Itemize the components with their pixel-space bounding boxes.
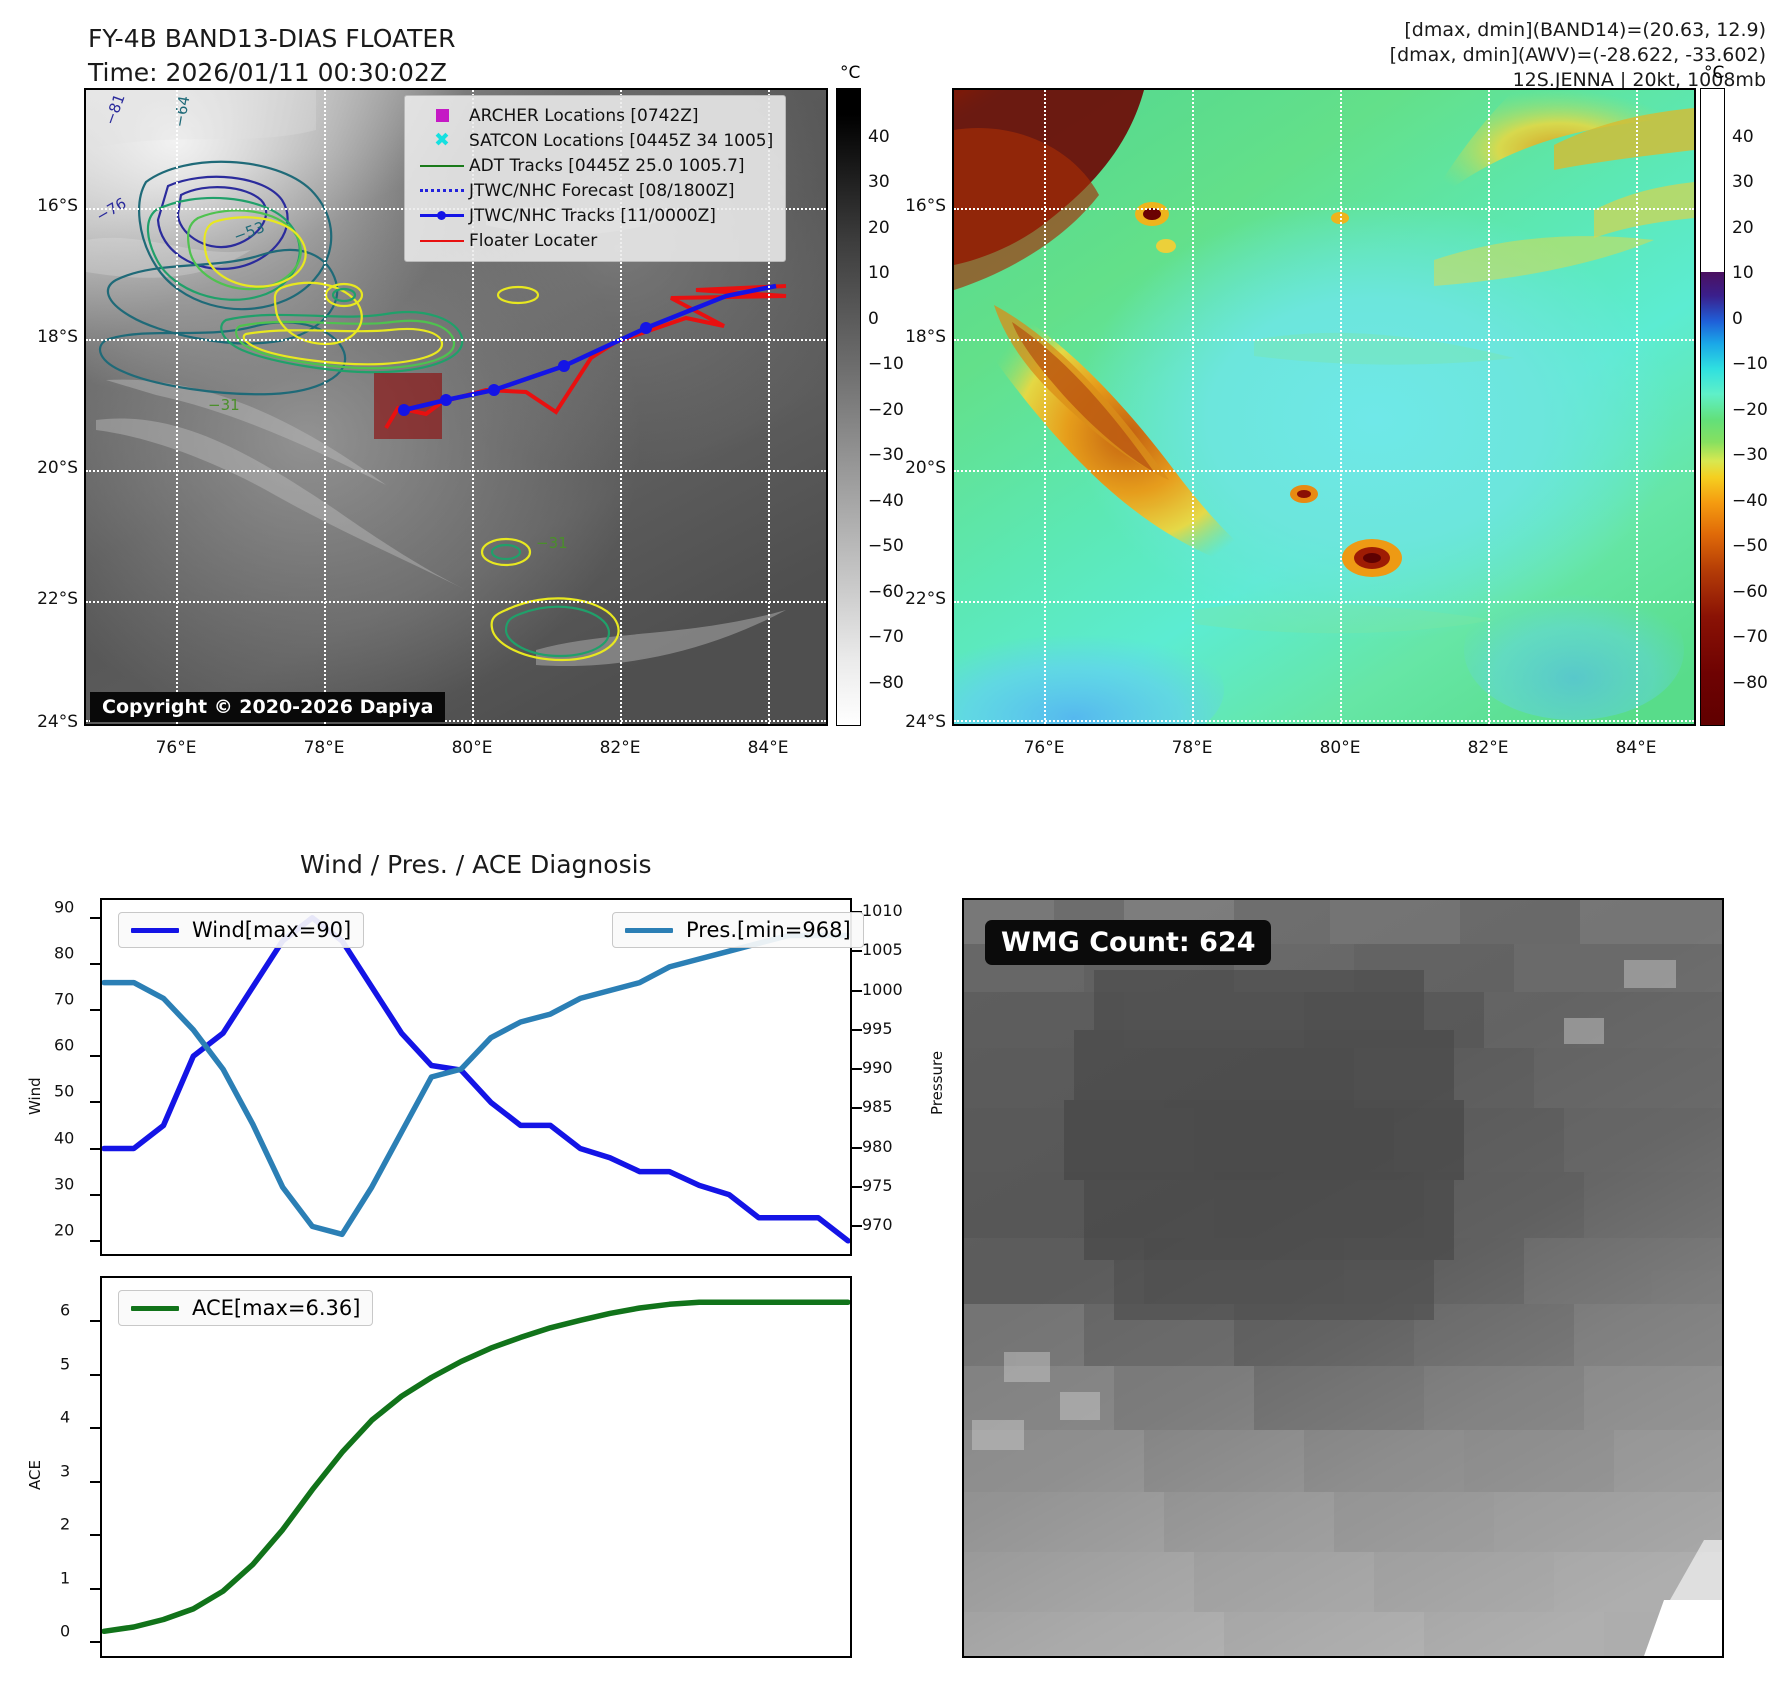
colorbar-right: [1700, 88, 1725, 726]
pressure-ytick: 1010: [862, 901, 903, 920]
pressure-tickmark: [852, 990, 862, 992]
legend-item-floater[interactable]: Floater Locater: [415, 228, 773, 253]
pressure-ytick: 985: [862, 1097, 893, 1116]
pressure-ytick: 980: [862, 1137, 893, 1156]
pressure-tickmark: [852, 1225, 862, 1227]
svg-text:−31: −31: [536, 534, 568, 552]
ace-ytick: 6: [60, 1301, 70, 1320]
colorbar-right-tick: −20: [1732, 400, 1768, 420]
colorbar-left-tick: −10: [868, 354, 904, 374]
legend-label: SATCON Locations [0445Z 34 1005]: [469, 131, 773, 151]
wind-ytick: 90: [54, 897, 74, 916]
legend-item-satcon[interactable]: ✖ SATCON Locations [0445Z 34 1005]: [415, 128, 773, 153]
product-title-block: FY-4B BAND13-DIAS FLOATER Time: 2026/01/…: [88, 22, 456, 90]
svg-text:−31: −31: [208, 396, 240, 414]
ace-ytick: 4: [60, 1408, 70, 1427]
map-right-xtick: 82°E: [1468, 738, 1509, 758]
wind-tickmark: [90, 1009, 100, 1011]
map-left-xtick: 76°E: [156, 738, 197, 758]
wind-ytick: 60: [54, 1036, 74, 1055]
wmg-microwave-panel[interactable]: [962, 898, 1724, 1658]
colorbar-right-tick: 20: [1732, 218, 1754, 238]
ace-plot-area: [102, 1278, 850, 1656]
map-right-ytick: 22°S: [890, 589, 946, 609]
ace-ytick: 3: [60, 1461, 70, 1480]
colorbar-right-tick: 40: [1732, 127, 1754, 147]
ace-tickmark: [90, 1641, 100, 1643]
wind-ytick: 80: [54, 943, 74, 962]
pressure-color-swatch: [625, 928, 673, 933]
wmg-count-badge: WMG Count: 624: [985, 920, 1271, 965]
map-right-ytick: 18°S: [890, 327, 946, 347]
ace-legend-label: ACE[max=6.36]: [192, 1296, 360, 1320]
pressure-tickmark: [852, 1147, 862, 1149]
awv-enhanced-map[interactable]: [952, 88, 1696, 726]
map-right-xtick: 84°E: [1616, 738, 1657, 758]
pressure-tickmark: [852, 950, 862, 952]
wind-tickmark: [90, 1240, 100, 1242]
ace-tickmark: [90, 1588, 100, 1590]
colorbar-left-tick: 40: [868, 127, 890, 147]
colorbar-right-tick: −10: [1732, 354, 1768, 374]
pressure-tickmark: [852, 1029, 862, 1031]
colorbar-left-tick: −50: [868, 536, 904, 556]
colorbar-right-unit: °C: [1704, 63, 1724, 83]
blue-dotted-line-icon: [415, 189, 469, 192]
ace-ytick: 2: [60, 1515, 70, 1534]
legend-label: ADT Tracks [0445Z 25.0 1005.7]: [469, 156, 745, 176]
dmax-band14-text: [dmax, dmin](BAND14)=(20.63, 12.9): [1390, 18, 1766, 43]
wmg-pixelated-imagery: [964, 900, 1722, 1656]
wind-ytick: 40: [54, 1128, 74, 1147]
pressure-tickmark: [852, 1107, 862, 1109]
colorbar-left-tick: −40: [868, 491, 904, 511]
legend-item-archer[interactable]: ARCHER Locations [0742Z]: [415, 103, 773, 128]
legend-item-tracks[interactable]: JTWC/NHC Tracks [11/0000Z]: [415, 203, 773, 228]
copyright-badge: Copyright © 2020-2026 Dapiya: [90, 692, 445, 722]
map-left-ytick: 20°S: [22, 458, 78, 478]
colorbar-left-tick: 0: [868, 309, 879, 329]
wind-ytick: 30: [54, 1174, 74, 1193]
wind-ytick: 20: [54, 1220, 74, 1239]
map-left-ytick: 22°S: [22, 589, 78, 609]
colorbar-left-unit: °C: [840, 63, 860, 83]
colorbar-right-tick: 30: [1732, 172, 1754, 192]
pressure-tickmark: [852, 1068, 862, 1070]
wind-tickmark: [90, 963, 100, 965]
colorbar-left: [836, 88, 861, 726]
colorbar-right-tick: 10: [1732, 263, 1754, 283]
legend-label: JTWC/NHC Tracks [11/0000Z]: [469, 206, 716, 226]
map-right-xtick: 80°E: [1320, 738, 1361, 758]
ace-ytick: 5: [60, 1354, 70, 1373]
map-left-xtick: 84°E: [748, 738, 789, 758]
wind-tickmark: [90, 1194, 100, 1196]
colorbar-left-tick: 10: [868, 263, 890, 283]
ace-chart[interactable]: [100, 1276, 852, 1658]
colorbar-right-tick: −30: [1732, 445, 1768, 465]
awv-enhanced-imagery: [954, 90, 1694, 724]
wind-ytick: 70: [54, 990, 74, 1009]
wind-color-swatch: [131, 928, 179, 933]
map-left-xtick: 78°E: [304, 738, 345, 758]
wind-legend[interactable]: Wind[max=90]: [118, 912, 364, 948]
legend-label: JTWC/NHC Forecast [08/1800Z]: [469, 181, 734, 201]
colorbar-left-tick: 20: [868, 218, 890, 238]
colorbar-left-tick: 30: [868, 172, 890, 192]
ace-tickmark: [90, 1534, 100, 1536]
cyan-x-marker-icon: ✖: [415, 131, 469, 150]
wind-tickmark: [90, 1101, 100, 1103]
map-right-ytick: 16°S: [890, 196, 946, 216]
blue-track-line-icon: [415, 214, 469, 217]
pressure-ytick: 970: [862, 1215, 893, 1234]
pressure-ytick: 995: [862, 1019, 893, 1038]
ace-tickmark: [90, 1427, 100, 1429]
red-line-icon: [415, 240, 469, 242]
ace-color-swatch: [131, 1306, 179, 1311]
ace-ytick: 0: [60, 1621, 70, 1640]
colorbar-left-tick: −20: [868, 400, 904, 420]
colorbar-right-tick: −60: [1732, 582, 1768, 602]
magenta-square-marker-icon: [415, 109, 469, 122]
ace-ytick: 1: [60, 1568, 70, 1587]
wind-axis-label: Wind: [26, 1077, 44, 1115]
product-time: Time: 2026/01/11 00:30:02Z: [88, 56, 456, 90]
map-left-ytick: 16°S: [22, 196, 78, 216]
ace-tickmark: [90, 1320, 100, 1322]
pressure-ytick: 1000: [862, 980, 903, 999]
legend-item-adt[interactable]: ADT Tracks [0445Z 25.0 1005.7]: [415, 153, 773, 178]
green-line-icon: [415, 165, 469, 167]
wind-legend-label: Wind[max=90]: [192, 918, 351, 942]
wind-pressure-chart[interactable]: [100, 898, 852, 1256]
pressure-tickmark: [852, 1186, 862, 1188]
diagnosis-title: Wind / Pres. / ACE Diagnosis: [300, 850, 652, 879]
map-left-ytick: 18°S: [22, 327, 78, 347]
colorbar-right-tick: 0: [1732, 309, 1743, 329]
ace-tickmark: [90, 1481, 100, 1483]
wind-tickmark: [90, 1055, 100, 1057]
pressure-ytick: 990: [862, 1058, 893, 1077]
pressure-legend-label: Pres.[min=968]: [686, 918, 851, 942]
pressure-axis-label: Pressure: [928, 1051, 946, 1115]
map-right-ytick: 24°S: [890, 712, 946, 732]
colorbar-right-tick: −80: [1732, 673, 1768, 693]
ace-legend[interactable]: ACE[max=6.36]: [118, 1290, 373, 1326]
legend-label: ARCHER Locations [0742Z]: [469, 106, 699, 126]
map-legend: ARCHER Locations [0742Z] ✖ SATCON Locati…: [404, 95, 786, 262]
wind-pressure-plot-area: [102, 900, 850, 1254]
ace-tickmark: [90, 1374, 100, 1376]
wind-tickmark: [90, 917, 100, 919]
colorbar-right-tick: −40: [1732, 491, 1768, 511]
map-right-xtick: 76°E: [1024, 738, 1065, 758]
wind-ytick: 50: [54, 1082, 74, 1101]
legend-item-forecast[interactable]: JTWC/NHC Forecast [08/1800Z]: [415, 178, 773, 203]
pressure-legend[interactable]: Pres.[min=968]: [612, 912, 864, 948]
colorbar-left-tick: −70: [868, 627, 904, 647]
colorbar-right-tick: −50: [1732, 536, 1768, 556]
map-right-ytick: 20°S: [890, 458, 946, 478]
map-left-ytick: 24°S: [22, 712, 78, 732]
legend-label: Floater Locater: [469, 231, 597, 251]
product-title: FY-4B BAND13-DIAS FLOATER: [88, 22, 456, 56]
colorbar-left-tick: −80: [868, 673, 904, 693]
colorbar-right-tick: −70: [1732, 627, 1768, 647]
pressure-ytick: 1005: [862, 940, 903, 959]
map-right-xtick: 78°E: [1172, 738, 1213, 758]
wind-tickmark: [90, 1148, 100, 1150]
ace-axis-label: ACE: [26, 1460, 44, 1490]
map-left-xtick: 82°E: [600, 738, 641, 758]
map-left-xtick: 80°E: [452, 738, 493, 758]
pressure-ytick: 975: [862, 1176, 893, 1195]
